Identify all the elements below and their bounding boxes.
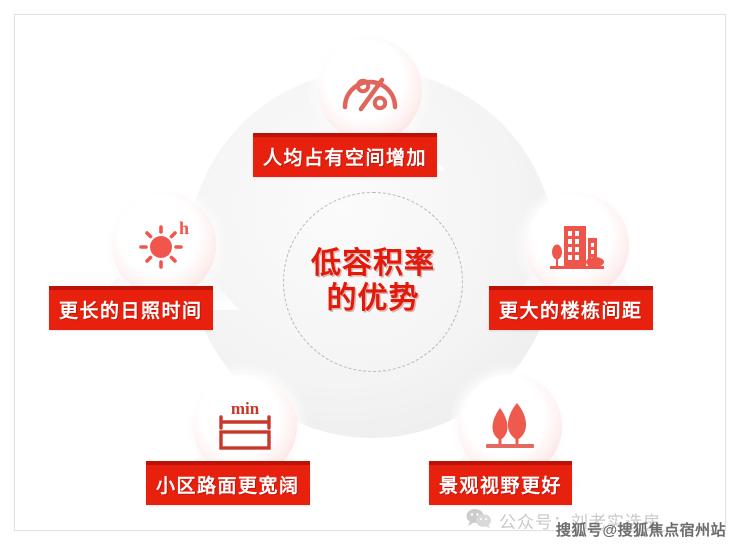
label-left[interactable]: 更长的日照时间 <box>49 286 213 330</box>
wechat-icon <box>466 508 492 533</box>
icon-bubble-right[interactable] <box>525 193 629 297</box>
road-width-min-icon: min <box>212 398 278 454</box>
label-top[interactable]: 人均占有空间增加 <box>253 133 437 177</box>
infographic-canvas: 低容积率 的优势 人均占有空间增加 <box>0 0 740 547</box>
buildings-icon <box>546 216 608 274</box>
center-title-line2: 的优势 <box>327 282 420 317</box>
label-right[interactable]: 更大的楼栋间距 <box>489 286 653 330</box>
label-bottom-left[interactable]: 小区路面更宽阔 <box>146 461 310 505</box>
sohu-watermark-text: 搜狐号@搜狐焦点宿州站 <box>556 519 726 540</box>
icon-bubble-top[interactable] <box>318 38 422 142</box>
road-width-min-icon-text: min <box>231 399 260 418</box>
center-title: 低容积率 的优势 <box>283 192 463 372</box>
trees-icon <box>479 398 541 454</box>
percent-gauge-icon <box>339 63 401 117</box>
center-title-line1: 低容积率 <box>311 247 435 282</box>
sun-hours-icon-text: h <box>179 218 189 238</box>
sun-hours-icon: h <box>134 216 194 274</box>
label-bottom-right[interactable]: 景观视野更好 <box>429 461 572 505</box>
icon-bubble-left[interactable]: h <box>112 193 216 297</box>
